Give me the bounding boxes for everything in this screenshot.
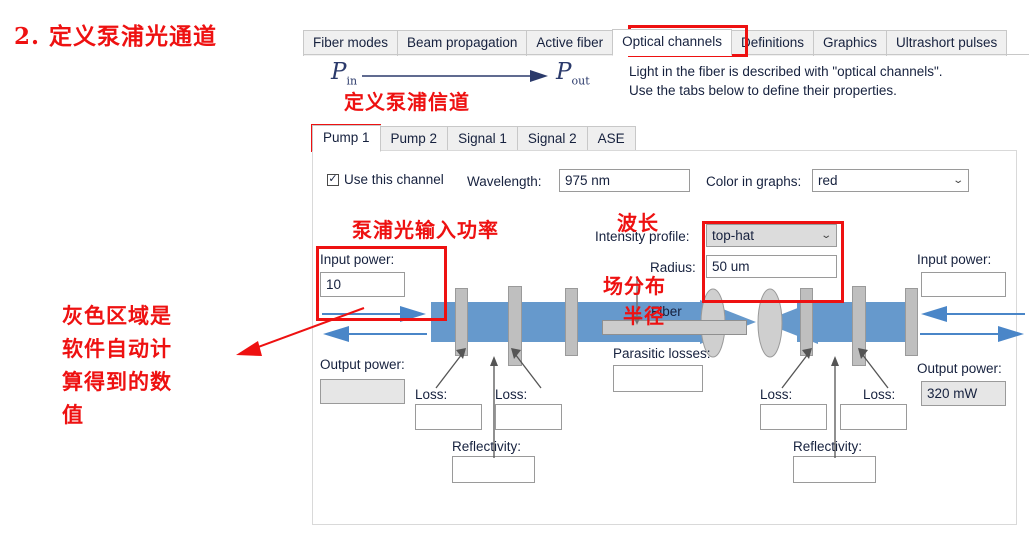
optical-element-left-1 bbox=[455, 288, 468, 356]
formula-p-in: Pin bbox=[331, 61, 357, 87]
right-input-power-label: Input power: bbox=[917, 253, 991, 267]
arrow-right-forward-icon bbox=[920, 326, 1025, 342]
tab-beam-propagation[interactable]: Beam propagation bbox=[397, 30, 527, 56]
channel-tab-strip: Pump 1 Pump 2 Signal 1 Signal 2 ASE bbox=[312, 125, 635, 152]
annotation-grey-note-line-1: 灰色区域是 bbox=[62, 300, 172, 330]
use-this-channel-label: Use this channel bbox=[344, 173, 444, 187]
left-loss1-input[interactable] bbox=[415, 404, 482, 430]
tab-ase[interactable]: ASE bbox=[587, 126, 636, 152]
wavelength-input[interactable]: 975 nm bbox=[559, 169, 690, 192]
left-loss2-input[interactable] bbox=[495, 404, 562, 430]
tab-signal-1[interactable]: Signal 1 bbox=[447, 126, 518, 152]
right-output-power-readonly: 320 mW bbox=[921, 381, 1006, 406]
p-in-symbol: P bbox=[331, 59, 346, 85]
formula-arrow-icon bbox=[362, 66, 552, 86]
tab-pump-1[interactable]: Pump 1 bbox=[312, 125, 381, 152]
right-loss1-input[interactable] bbox=[760, 404, 827, 430]
annotation-grey-note-line-4: 值 bbox=[62, 399, 84, 429]
wavelength-label: Wavelength: bbox=[467, 175, 542, 189]
left-output-power-readonly bbox=[320, 379, 405, 404]
right-loss1-label: Loss: bbox=[760, 388, 792, 402]
annotation-title: 2. 定义泵浦光通道 bbox=[14, 17, 217, 51]
color-in-graphs-select[interactable]: red ⌄ bbox=[812, 169, 969, 192]
right-loss2-label: Loss: bbox=[863, 388, 895, 402]
p-out-subscript: out bbox=[571, 75, 589, 88]
left-loss1-label: Loss: bbox=[415, 388, 447, 402]
tab-signal-2[interactable]: Signal 2 bbox=[517, 126, 588, 152]
right-output-power-label: Output power: bbox=[917, 362, 1002, 376]
chevron-down-icon: ⌄ bbox=[952, 176, 964, 186]
annotation-grey-note-line-2: 软件自动计 bbox=[62, 333, 172, 363]
annotation-pump-input-power: 泵浦光输入功率 bbox=[352, 214, 499, 243]
right-loss2-input[interactable] bbox=[840, 404, 907, 430]
formula-p-out: Pout bbox=[556, 61, 590, 87]
left-reflectivity-input[interactable] bbox=[452, 456, 535, 483]
parasitic-losses-input[interactable] bbox=[613, 365, 703, 392]
use-this-channel-checkbox[interactable]: ✓ bbox=[327, 174, 339, 186]
tab-active-fiber[interactable]: Active fiber bbox=[526, 30, 613, 56]
left-loss2-pointer-icon bbox=[508, 348, 543, 390]
right-loss1-pointer-icon bbox=[780, 348, 815, 390]
tab-ultrashort-pulses[interactable]: Ultrashort pulses bbox=[886, 30, 1007, 56]
left-reflectivity-pointer-icon bbox=[487, 356, 501, 458]
color-in-graphs-value: red bbox=[818, 174, 838, 188]
description-line-1: Light in the fiber is described with "op… bbox=[629, 62, 943, 81]
annotation-grey-note-line-3: 算得到的数 bbox=[62, 366, 172, 396]
optical-element-right-3 bbox=[905, 288, 918, 356]
arrow-right-backward-icon bbox=[920, 306, 1025, 322]
outer-tab-strip: Fiber modes Beam propagation Active fibe… bbox=[303, 29, 1006, 56]
tab-optical-channels[interactable]: Optical channels bbox=[612, 29, 732, 56]
use-this-channel-row[interactable]: ✓ Use this channel bbox=[327, 173, 444, 187]
annotation-box-profile-radius bbox=[702, 221, 844, 303]
tab-pump-2[interactable]: Pump 2 bbox=[380, 126, 449, 152]
right-input-power-input[interactable] bbox=[921, 272, 1006, 297]
right-reflectivity-input[interactable] bbox=[793, 456, 876, 483]
right-reflectivity-pointer-icon bbox=[828, 356, 842, 458]
annotation-define-pump-channel: 定义泵浦信道 bbox=[344, 86, 470, 115]
optical-element-left-3 bbox=[565, 288, 578, 356]
tab-graphics[interactable]: Graphics bbox=[813, 30, 887, 56]
annotation-field-profile: 场分布 bbox=[603, 270, 666, 299]
color-in-graphs-label: Color in graphs: bbox=[706, 175, 801, 189]
annotation-arrow-to-output-power bbox=[236, 305, 366, 365]
right-loss2-pointer-icon bbox=[855, 348, 890, 390]
left-loss1-pointer-icon bbox=[434, 348, 469, 390]
parasitic-losses-label: Parasitic losses: bbox=[613, 347, 711, 361]
p-out-symbol: P bbox=[556, 59, 571, 85]
description-line-2: Use the tabs below to define their prope… bbox=[629, 81, 897, 100]
annotation-wavelength: 波长 bbox=[617, 207, 659, 236]
annotation-radius: 半径 bbox=[623, 300, 665, 329]
tab-fiber-modes[interactable]: Fiber modes bbox=[303, 30, 398, 56]
